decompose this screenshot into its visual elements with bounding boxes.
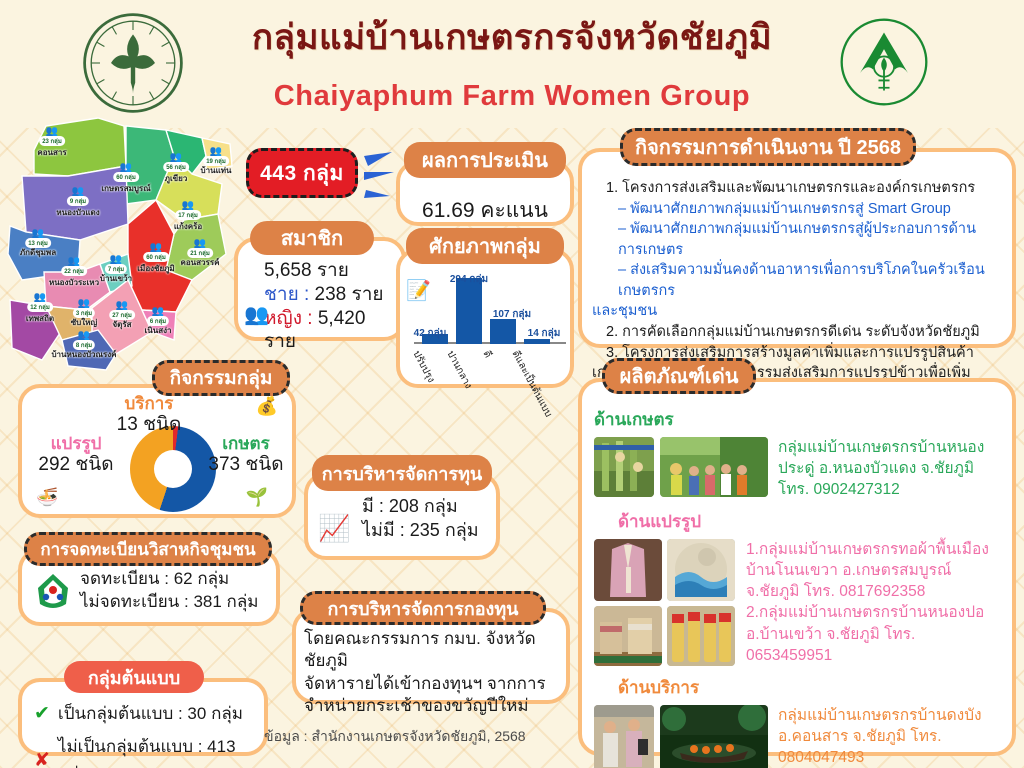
people-icon: 👥: [170, 154, 182, 162]
processing-label: แปรรูป: [24, 434, 128, 454]
map-label-district: คอนสาร: [37, 146, 66, 159]
river-boat-tour-photo[interactable]: [660, 705, 768, 768]
notebook-pencil-icon: 📝: [406, 278, 431, 303]
map-label-district: หนองบัวแดง: [56, 206, 99, 219]
group-activity-card: บริการ 13 ชนิด แปรรูป 292 ชนิด เกษตร 373…: [18, 384, 296, 518]
map-pin-district[interactable]: 👥23 กลุ่ม: [39, 128, 65, 146]
people-icon: 👥: [68, 258, 80, 266]
map-pin-count: 60 กลุ่ม: [143, 252, 169, 262]
rice-baskets-photo[interactable]: [594, 606, 662, 666]
check-icon: ✔: [34, 702, 50, 725]
bar-category-1: ปานกลาง: [443, 348, 476, 392]
service-label: บริการ: [96, 394, 202, 414]
bar-value-0: 42 กลุ่ม: [414, 326, 447, 341]
bar-1: [456, 278, 482, 344]
source-note: ข้อมูล : สำนักงานเกษตรจังหวัดชัยภูมิ, 25…: [264, 726, 526, 748]
map-pin-district[interactable]: 👥60 กลุ่ม: [113, 164, 139, 182]
product-contact-text: กลุ่มแม่บ้านเกษตรกรบ้านหนองประดู่ อ.หนอง…: [778, 437, 1002, 500]
fund-line: จำหน่ายกระเช้าของขวัญปีใหม่: [304, 695, 560, 717]
map-label-district: หนองบัวระเหว: [49, 276, 99, 289]
product-section-heading: ด้านแปรรูป: [618, 508, 1002, 535]
agriculture-value: 373 ชนิด: [196, 454, 296, 476]
potential-title: ศักยภาพกลุ่ม: [406, 228, 564, 264]
products-title: ผลิตภัณฑ์เด่น: [602, 358, 756, 394]
map-label-district: เมืองชัยภูมิ: [137, 262, 174, 275]
model-no: ไม่เป็นกลุ่มต้นแบบ : 413 กลุ่ม: [58, 733, 264, 768]
product-contact-text: กลุ่มแม่บ้านเกษตรกรบ้านดงบัง อ.คอนสาร จ.…: [778, 705, 1002, 768]
members-male-label: ชาย: [264, 284, 299, 305]
activity-line: – พัฒนาศักยภาพกลุ่มแม่บ้านเกษตรกรสู่ Sma…: [592, 199, 1004, 220]
map-label-district: ซับใหญ่: [71, 316, 98, 329]
people-icon: 👥: [32, 230, 44, 238]
capital-has: มี : 208 กลุ่ม: [362, 494, 496, 518]
enterprise-unregistered: ไม่จดทะเบียน : 381 กลุ่ม: [80, 591, 276, 614]
map-pin-count: 9 กลุ่ม: [67, 196, 89, 206]
activity-line: และชุมชน: [592, 301, 1004, 322]
community-enterprise-logo-icon: [32, 570, 74, 614]
service-value: 13 ชนิด: [96, 414, 202, 436]
potential-bar-chart: 42 กลุ่ม 294 กลุ่ม 107 กลุ่ม 14 กลุ่ม ปร…: [408, 274, 570, 386]
activity-line: – ส่งเสริมความมั่นคงด้านอาหารเพื่อการบริ…: [592, 260, 1004, 301]
product-contact-text: 1.กลุ่มแม่บ้านเกษตรกรทอผ้าพื้นเมืองบ้านโ…: [746, 539, 1002, 666]
members-male-value: 238 ราย: [315, 284, 384, 305]
map-label-district: บ้านแท่น: [201, 164, 232, 177]
bar-value-1: 294 กลุ่ม: [450, 272, 488, 287]
map-pin-count: 12 กลุ่ม: [27, 302, 53, 312]
evaluation-score: 61.69 คะแนน: [400, 194, 570, 227]
map-label-district: บ้านหนองบัวณรงค์: [51, 348, 116, 361]
bar-value-2: 107 กลุ่ม: [493, 307, 531, 322]
agriculture-label: เกษตร: [196, 434, 296, 454]
product-photos[interactable]: [594, 437, 768, 500]
bar-value-3: 14 กลุ่ม: [528, 326, 561, 341]
people-icon: 👥: [46, 128, 58, 136]
activities-title: กิจกรรมการดำเนินงาน ปี 2568: [620, 128, 916, 166]
model-group-title: กลุ่มต้นแบบ: [64, 661, 204, 693]
map-pin-district[interactable]: 👥60 กลุ่ม: [143, 244, 169, 262]
products-card: ด้านเกษตร กลุ่มแม่: [578, 378, 1016, 756]
map-pin-district[interactable]: 👥9 กลุ่ม: [67, 188, 89, 206]
product-section-heading: ด้านเกษตร: [594, 406, 1002, 433]
people-icon: 👥: [210, 148, 222, 156]
seedling-icon: 🌱: [246, 487, 268, 508]
people-icon: 👥: [182, 202, 194, 210]
map-pin-count: 22 กลุ่ม: [61, 266, 87, 276]
map-label-district: จัตุรัส: [112, 318, 131, 331]
people-icon: 👥: [152, 308, 164, 316]
product-section-heading: ด้านบริการ: [618, 674, 1002, 701]
people-icon: 👥: [72, 188, 84, 196]
map-pin-count: 60 กลุ่ม: [113, 172, 139, 182]
members-female-label: หญิง: [264, 308, 302, 329]
map-label-district: คอนสวรรค์: [181, 256, 220, 269]
map-label-district: เกษตรสมบูรณ์: [101, 182, 150, 195]
people-icon: 👥: [120, 164, 132, 172]
members-total: 5,658 ราย: [264, 259, 402, 283]
enterprise-registered: จดทะเบียน : 62 กลุ่ม: [80, 568, 276, 591]
product-photos[interactable]: [594, 539, 736, 666]
vegetable-bundles-photo[interactable]: [594, 437, 654, 497]
people-group-icon: 👥: [244, 302, 269, 327]
bar-2: [490, 319, 516, 344]
product-photos[interactable]: [594, 705, 768, 768]
fund-line: จัดหารายได้เข้ากองทุนฯ จากการ: [304, 673, 560, 695]
farm-women-group-logo-icon: [838, 16, 930, 108]
map-label-district: เนินสง่า: [145, 324, 172, 337]
processing-value: 292 ชนิด: [24, 454, 128, 476]
map-pin-count: 56 กลุ่ม: [163, 162, 189, 172]
chaiyaphum-district-map[interactable]: 👥23 กลุ่ม คอนสาร 👥60 กลุ่ม เกษตรสมบูรณ์ …: [6, 104, 240, 372]
map-label-district: แก้งคร้อ: [174, 220, 202, 233]
map-label-district: ภูเขียว: [165, 172, 188, 185]
group-activity-title: กิจกรรมกลุ่ม: [152, 360, 290, 396]
map-label-district: บ้านเขว้า: [100, 272, 132, 285]
activity-line: 1. โครงการส่งเสริมและพัฒนาเกษตรกรและองค์…: [592, 178, 1004, 199]
snack-packs-photo[interactable]: [667, 606, 735, 666]
activity-line: 2. การคัดเลือกกลุ่มแม่บ้านเกษตรกรดีเด่น …: [592, 322, 1004, 343]
bar-category-2: ดี: [479, 348, 495, 361]
members-title: สมาชิก: [250, 221, 374, 255]
cross-icon: ✘: [34, 749, 50, 768]
people-icon: 👥: [110, 256, 122, 264]
potential-card: 42 กลุ่ม 294 กลุ่ม 107 กลุ่ม 14 กลุ่ม ปร…: [396, 248, 574, 388]
capital-none: ไม่มี : 235 กลุ่ม: [362, 518, 496, 542]
enterprise-registration-title: การจดทะเบียนวิสาหกิจชุมชน: [24, 532, 272, 566]
people-icon: 👥: [116, 302, 128, 310]
activity-line: – พัฒนาศักยภาพกลุ่มแม่บ้านเกษตรกรสู่ผู้ป…: [592, 219, 1004, 260]
map-pin-district[interactable]: 👥56 กลุ่ม: [163, 154, 189, 172]
people-icon: 👥: [194, 240, 206, 248]
people-icon: 👥: [150, 244, 162, 252]
bar-category-0: ปรับปรุง: [409, 348, 439, 386]
fund-line: โดยคณะกรรมการ กมบ. จังหวัดชัยภูมิ: [304, 628, 560, 673]
map-label-district: ภักดีชุมพล: [20, 246, 56, 259]
page-subtitle: Chaiyaphum Farm Women Group: [192, 80, 832, 113]
bar-category-3: ดีและเป็นต้นแบบ: [508, 348, 556, 420]
ministry-of-agriculture-seal-icon: [78, 8, 188, 118]
map-pin-district[interactable]: 👥22 กลุ่ม: [61, 258, 87, 276]
people-icon: 👥: [78, 300, 90, 308]
market-stall-photo[interactable]: [594, 705, 654, 768]
fund-management-title: การบริหารจัดการกองทุน: [300, 591, 546, 625]
map-pin-count: 23 กลุ่ม: [39, 136, 65, 146]
woven-cloth-jacket-photo[interactable]: [594, 539, 662, 601]
total-groups-badge: 443 กลุ่ม: [246, 148, 358, 198]
evaluation-title: ผลการประเมิน: [404, 142, 566, 178]
capital-management-title: การบริหารจัดการทุน: [312, 455, 492, 491]
page-title: กลุ่มแม่บ้านเกษตรกรจังหวัดชัยภูมิ: [192, 18, 832, 58]
map-pin-district[interactable]: 👥17 กลุ่ม: [175, 202, 201, 220]
map-label-district: เทพสถิต: [26, 312, 54, 325]
painted-bag-photo[interactable]: [667, 539, 735, 601]
money-hand-icon: 💰: [256, 396, 278, 417]
people-icon: 👥: [78, 332, 90, 340]
farm-field-group-photo[interactable]: [660, 437, 768, 497]
map-pin-count: 17 กลุ่ม: [175, 210, 201, 220]
activities-card: 1. โครงการส่งเสริมและพัฒนาเกษตรกรและองค์…: [578, 148, 1016, 348]
growth-chart-icon: 📈: [318, 513, 350, 544]
processed-food-icon: 🍜: [36, 487, 58, 508]
model-yes: เป็นกลุ่มต้นแบบ : 30 กลุ่ม: [58, 700, 243, 727]
people-icon: 👥: [34, 294, 46, 302]
map-pin-district[interactable]: 👥12 กลุ่ม: [27, 294, 53, 312]
